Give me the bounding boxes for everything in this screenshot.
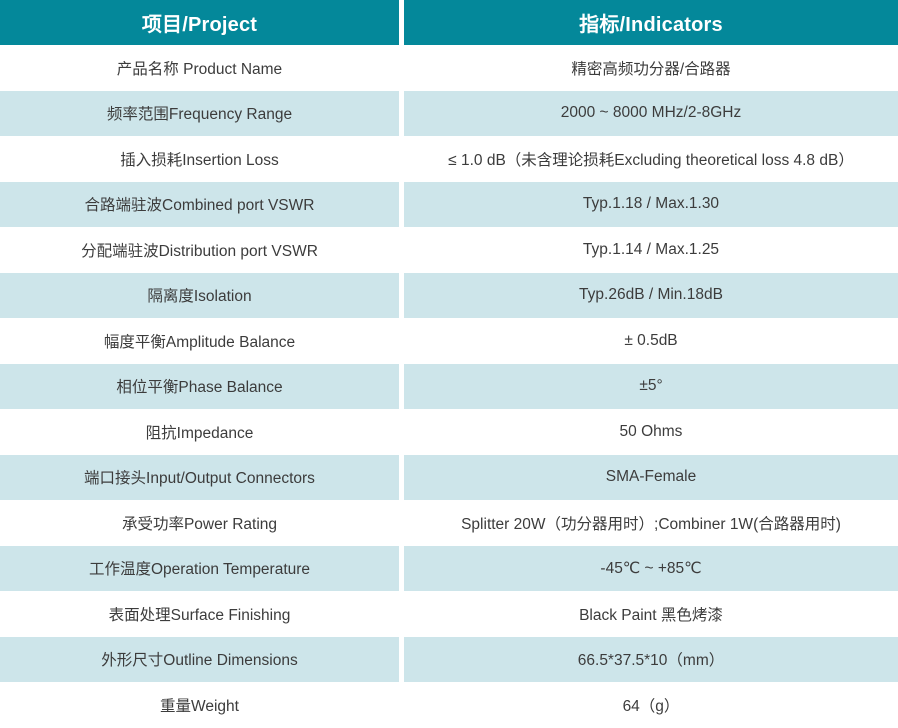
table-row: 阻抗Impedance50 Ohms [0, 409, 898, 455]
cell-indicator: Black Paint 黑色烤漆 [404, 591, 898, 637]
cell-indicator: ±5° [404, 364, 898, 410]
cell-project: 端口接头Input/Output Connectors [0, 455, 399, 501]
header-row: 项目/Project 指标/Indicators [0, 0, 898, 45]
cell-project: 相位平衡Phase Balance [0, 364, 399, 410]
cell-project: 产品名称 Product Name [0, 45, 399, 91]
table-row: 工作温度Operation Temperature-45℃ ~ +85℃ [0, 546, 898, 592]
table-row: 频率范围Frequency Range2000 ~ 8000 MHz/2-8GH… [0, 91, 898, 137]
cell-project: 幅度平衡Amplitude Balance [0, 318, 399, 364]
column-header-indicators: 指标/Indicators [404, 0, 898, 45]
cell-project: 工作温度Operation Temperature [0, 546, 399, 592]
cell-project: 承受功率Power Rating [0, 500, 399, 546]
cell-indicator: Splitter 20W（功分器用时）;Combiner 1W(合路器用时) [404, 500, 898, 546]
table-row: 幅度平衡Amplitude Balance± 0.5dB [0, 318, 898, 364]
table-row: 端口接头Input/Output ConnectorsSMA-Female [0, 455, 898, 501]
cell-project: 表面处理Surface Finishing [0, 591, 399, 637]
cell-indicator: ≤ 1.0 dB（未含理论损耗Excluding theoretical los… [404, 136, 898, 182]
cell-indicator: Typ.1.14 / Max.1.25 [404, 227, 898, 273]
cell-indicator: ± 0.5dB [404, 318, 898, 364]
table-row: 相位平衡Phase Balance±5° [0, 364, 898, 410]
table-row: 分配端驻波Distribution port VSWRTyp.1.14 / Ma… [0, 227, 898, 273]
table-row: 外形尺寸Outline Dimensions66.5*37.5*10（mm） [0, 637, 898, 683]
table-row: 合路端驻波Combined port VSWRTyp.1.18 / Max.1.… [0, 182, 898, 228]
table-row: 表面处理Surface FinishingBlack Paint 黑色烤漆 [0, 591, 898, 637]
column-header-project: 项目/Project [0, 0, 399, 45]
cell-project: 插入损耗Insertion Loss [0, 136, 399, 182]
cell-indicator: 50 Ohms [404, 409, 898, 455]
cell-project: 隔离度Isolation [0, 273, 399, 319]
table-row: 产品名称 Product Name精密高频功分器/合路器 [0, 45, 898, 91]
table-row: 承受功率Power RatingSplitter 20W（功分器用时）;Comb… [0, 500, 898, 546]
cell-indicator: SMA-Female [404, 455, 898, 501]
cell-indicator: Typ.26dB / Min.18dB [404, 273, 898, 319]
cell-indicator: -45℃ ~ +85℃ [404, 546, 898, 592]
cell-project: 分配端驻波Distribution port VSWR [0, 227, 399, 273]
table-row: 隔离度IsolationTyp.26dB / Min.18dB [0, 273, 898, 319]
cell-project: 合路端驻波Combined port VSWR [0, 182, 399, 228]
cell-indicator: 精密高频功分器/合路器 [404, 45, 898, 91]
cell-indicator: 66.5*37.5*10（mm） [404, 637, 898, 683]
table-row: 插入损耗Insertion Loss≤ 1.0 dB（未含理论损耗Excludi… [0, 136, 898, 182]
table-header: 项目/Project 指标/Indicators [0, 0, 898, 45]
table-body: 产品名称 Product Name精密高频功分器/合路器频率范围Frequenc… [0, 45, 898, 728]
cell-indicator: Typ.1.18 / Max.1.30 [404, 182, 898, 228]
cell-indicator: 2000 ~ 8000 MHz/2-8GHz [404, 91, 898, 137]
cell-project: 外形尺寸Outline Dimensions [0, 637, 399, 683]
cell-project: 阻抗Impedance [0, 409, 399, 455]
specifications-table: 项目/Project 指标/Indicators 产品名称 Product Na… [0, 0, 898, 728]
cell-project: 频率范围Frequency Range [0, 91, 399, 137]
